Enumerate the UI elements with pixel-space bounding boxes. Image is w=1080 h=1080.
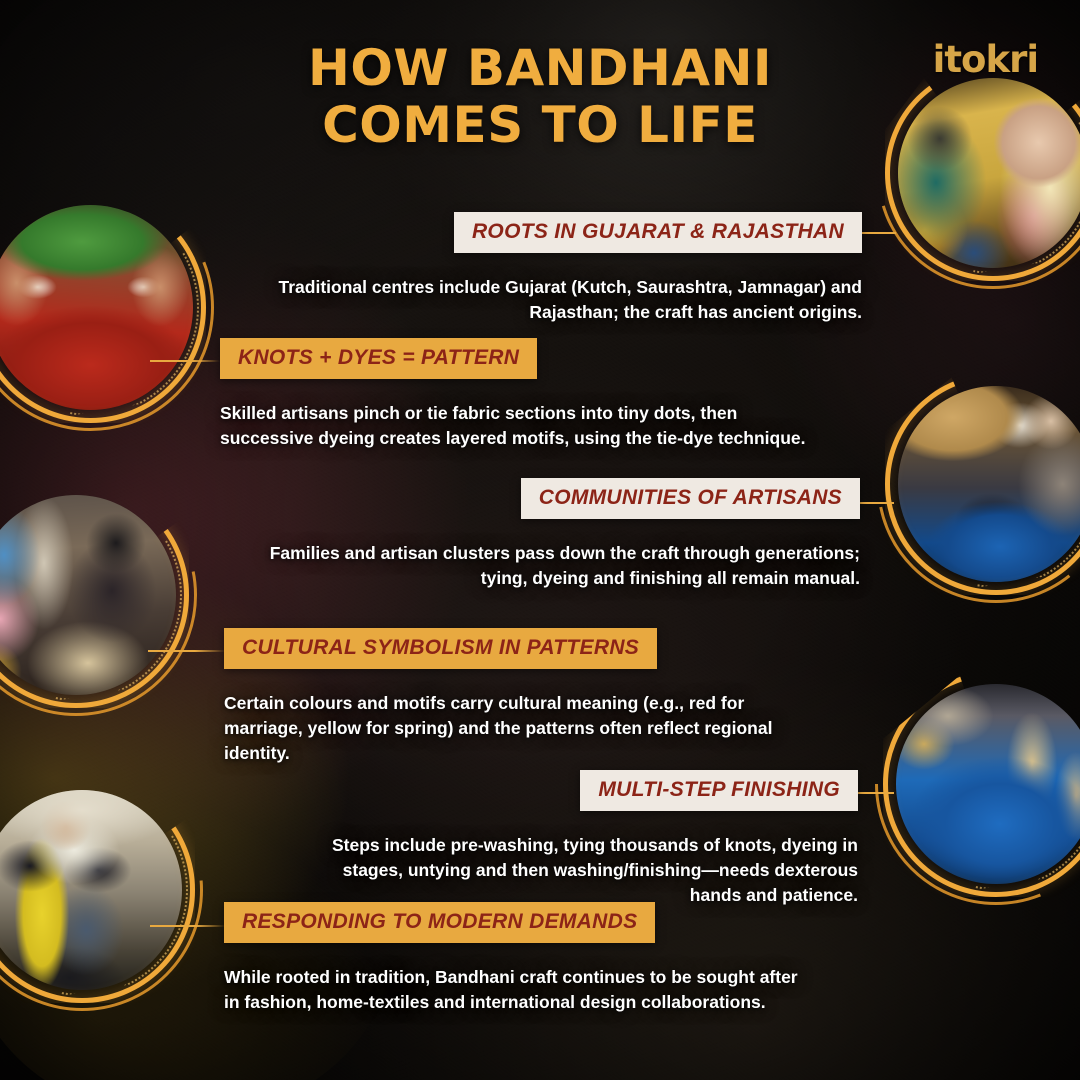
section-roots-in-gujarat-rajasthan: ROOTS IN GUJARAT & RAJASTHAN Traditional… <box>270 212 862 325</box>
section-2-body: Skilled artisans pinch or tie fabric sec… <box>220 401 820 451</box>
section-cultural-symbolism-in-patterns: CULTURAL SYMBOLISM IN PATTERNS Certain c… <box>224 628 794 766</box>
section-4-body: Certain colours and motifs carry cultura… <box>224 691 794 766</box>
section-6-body: While rooted in tradition, Bandhani craf… <box>224 965 804 1015</box>
section-communities-of-artisans: COMMUNITIES OF ARTISANS Families and art… <box>240 478 860 591</box>
section-6-heading: RESPONDING TO MODERN DEMANDS <box>224 902 655 943</box>
connector-line-2 <box>150 360 220 362</box>
section-3-body: Families and artisan clusters pass down … <box>240 541 860 591</box>
section-knots-dyes-pattern: KNOTS + DYES = PATTERN Skilled artisans … <box>220 338 820 451</box>
photo-artisan-lifting-yellow-dyed-fabric <box>0 790 182 990</box>
connector-line-4 <box>148 650 226 652</box>
section-5-heading: MULTI-STEP FINISHING <box>580 770 858 811</box>
section-multi-step-finishing: MULTI-STEP FINISHING Steps include pre-w… <box>300 770 858 908</box>
photo-women-knotting-cream-fabric <box>0 495 176 695</box>
section-4-heading: CULTURAL SYMBOLISM IN PATTERNS <box>224 628 657 669</box>
page-title-line-1: HOW BANDHANI <box>308 39 772 97</box>
section-3-heading: COMMUNITIES OF ARTISANS <box>521 478 860 519</box>
photo-fabric-bundles-dipped-in-indigo-vat <box>896 684 1080 884</box>
section-1-heading: ROOTS IN GUJARAT & RAJASTHAN <box>454 212 862 253</box>
connector-line-6 <box>150 925 226 927</box>
section-2-heading: KNOTS + DYES = PATTERN <box>220 338 537 379</box>
page-title: HOW BANDHANI COMES TO LIFE <box>0 40 1080 154</box>
page-title-line-2: COMES TO LIFE <box>0 97 1080 154</box>
section-5-body: Steps include pre-washing, tying thousan… <box>300 833 858 908</box>
itokri-logo: itokri <box>933 38 1038 81</box>
section-1-body: Traditional centres include Gujarat (Kut… <box>270 275 862 325</box>
photo-dyer-with-gloves-at-blue-dye-tub <box>898 386 1080 582</box>
photo-hands-tying-knots-in-red-fabric <box>0 205 193 410</box>
section-responding-to-modern-demands: RESPONDING TO MODERN DEMANDS While roote… <box>224 902 804 1015</box>
